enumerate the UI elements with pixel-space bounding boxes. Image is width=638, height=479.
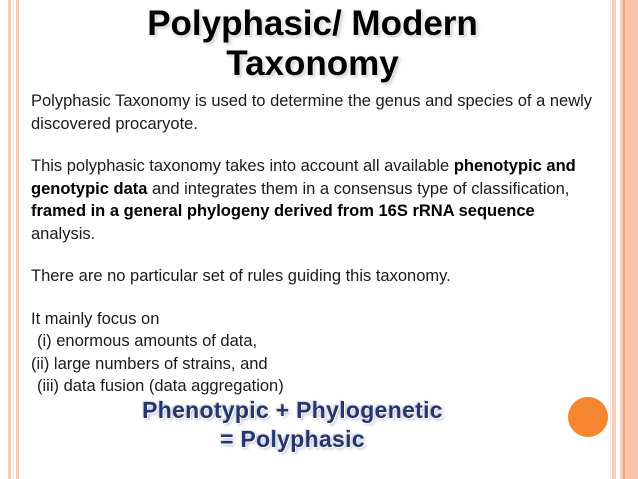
summary-equation-line-1: Phenotypic + Phylogenetic — [20, 396, 565, 425]
left-border-stripe-inner — [16, 0, 19, 479]
left-border-stripe-outer — [8, 0, 11, 479]
body-paragraph-2: This polyphasic taxonomy takes into acco… — [31, 155, 603, 245]
slide-canvas: Polyphasic/ Modern Taxonomy Polyphasic T… — [0, 0, 638, 479]
body-paragraph-2-bold-2: framed in a general phylogeny derived fr… — [31, 202, 535, 220]
right-border-stripe-6 — [627, 0, 638, 479]
body-paragraph-3-text: There are no particular set of rules gui… — [31, 267, 451, 285]
orange-circle-decoration — [568, 397, 608, 437]
body-paragraph-2-segment-2: and integrates them in a consensus type … — [147, 180, 569, 198]
body-paragraph-2-segment-1: This polyphasic taxonomy takes into acco… — [31, 157, 454, 175]
left-border-stripe-gap — [13, 0, 14, 479]
body-paragraph-3: There are no particular set of rules gui… — [31, 265, 603, 288]
body-paragraph-1-text: Polyphasic Taxonomy is used to determine… — [31, 92, 592, 133]
slide-body: Polyphasic Taxonomy is used to determine… — [31, 90, 603, 398]
slide-title-line-1: Polyphasic/ Modern — [20, 4, 605, 44]
focus-list-item-3: (iii) data fusion (data aggregation) — [31, 375, 603, 398]
slide-title-line-2: Taxonomy — [20, 44, 605, 84]
body-paragraph-4: It mainly focus on (i) enormous amounts … — [31, 308, 603, 398]
focus-list-item-2: (ii) large numbers of strains, and — [31, 353, 603, 376]
slide-title: Polyphasic/ Modern Taxonomy — [20, 4, 605, 84]
focus-list-intro: It mainly focus on — [31, 308, 603, 331]
right-border-stripe-1 — [610, 0, 611, 479]
summary-equation-line-2: = Polyphasic — [20, 425, 565, 454]
right-border-stripe-2 — [612, 0, 616, 479]
summary-equation: Phenotypic + Phylogenetic = Polyphasic — [20, 396, 565, 454]
body-paragraph-1: Polyphasic Taxonomy is used to determine… — [31, 90, 603, 135]
right-border-stripe-5 — [623, 0, 625, 479]
focus-list-item-1: (i) enormous amounts of data, — [31, 330, 603, 353]
body-paragraph-2-segment-3: analysis. — [31, 225, 95, 243]
